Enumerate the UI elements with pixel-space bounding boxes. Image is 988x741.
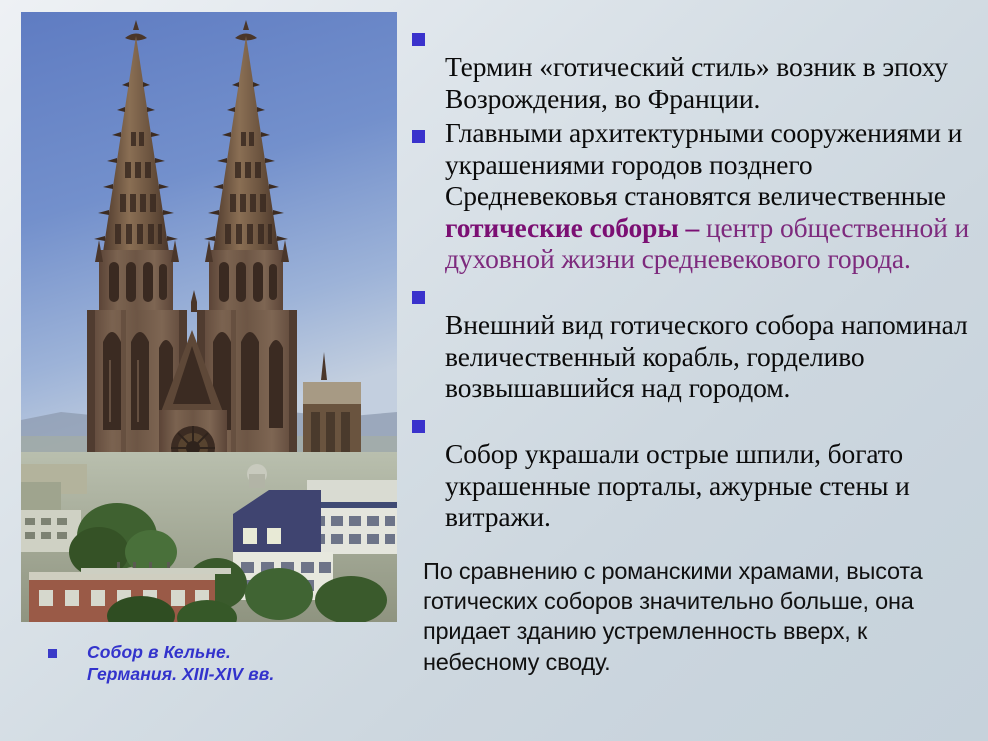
bullet-item-3-text: Внешний вид готического собора напоминал… — [445, 278, 975, 404]
bullet-item-3: Внешний вид готического собора напоминал… — [405, 278, 975, 404]
bullet-3-segment-plain: Внешний вид готического собора напоминал… — [445, 309, 968, 403]
bullet-item-2: Главными архитектурными сооружениями и у… — [405, 117, 975, 274]
square-bullet-icon — [412, 130, 425, 143]
cathedral-illustration — [21, 12, 397, 622]
bullet-2-segment-highlight: готические соборы – — [445, 212, 706, 243]
bullet-2-segment-plain: Главными архитектурными сооружениями и у… — [445, 117, 962, 211]
closing-paragraph: По сравнению с романскими храмами, высот… — [423, 556, 975, 677]
bullet-item-4-text: Собор украшали острые шпили, богато укра… — [445, 407, 975, 533]
image-caption: Собор в Кельне. Германия. XIII-XIV вв. — [48, 641, 398, 686]
square-bullet-icon — [48, 649, 57, 658]
bullet-item-1-text: Термин «готический стиль» возник в эпоху… — [445, 20, 975, 114]
bullet-4-segment-plain: Собор украшали острые шпили, богато укра… — [445, 438, 910, 532]
cologne-cathedral-photo — [21, 12, 397, 622]
bullet-1-segment-plain: Термин «готический стиль» возник в эпоху… — [445, 51, 948, 113]
square-bullet-icon — [412, 291, 425, 304]
bullet-item-4: Собор украшали острые шпили, богато укра… — [405, 407, 975, 533]
image-caption-text: Собор в Кельне. Германия. XIII-XIV вв. — [87, 641, 274, 686]
square-bullet-icon — [412, 420, 425, 433]
square-bullet-icon — [412, 33, 425, 46]
slide-body-text: Термин «готический стиль» возник в эпоху… — [405, 20, 975, 677]
presentation-slide: Собор в Кельне. Германия. XIII-XIV вв. Т… — [0, 0, 988, 741]
bullet-item-1: Термин «готический стиль» возник в эпоху… — [405, 20, 975, 114]
bullet-item-2-text: Главными архитектурными сооружениями и у… — [445, 117, 975, 274]
